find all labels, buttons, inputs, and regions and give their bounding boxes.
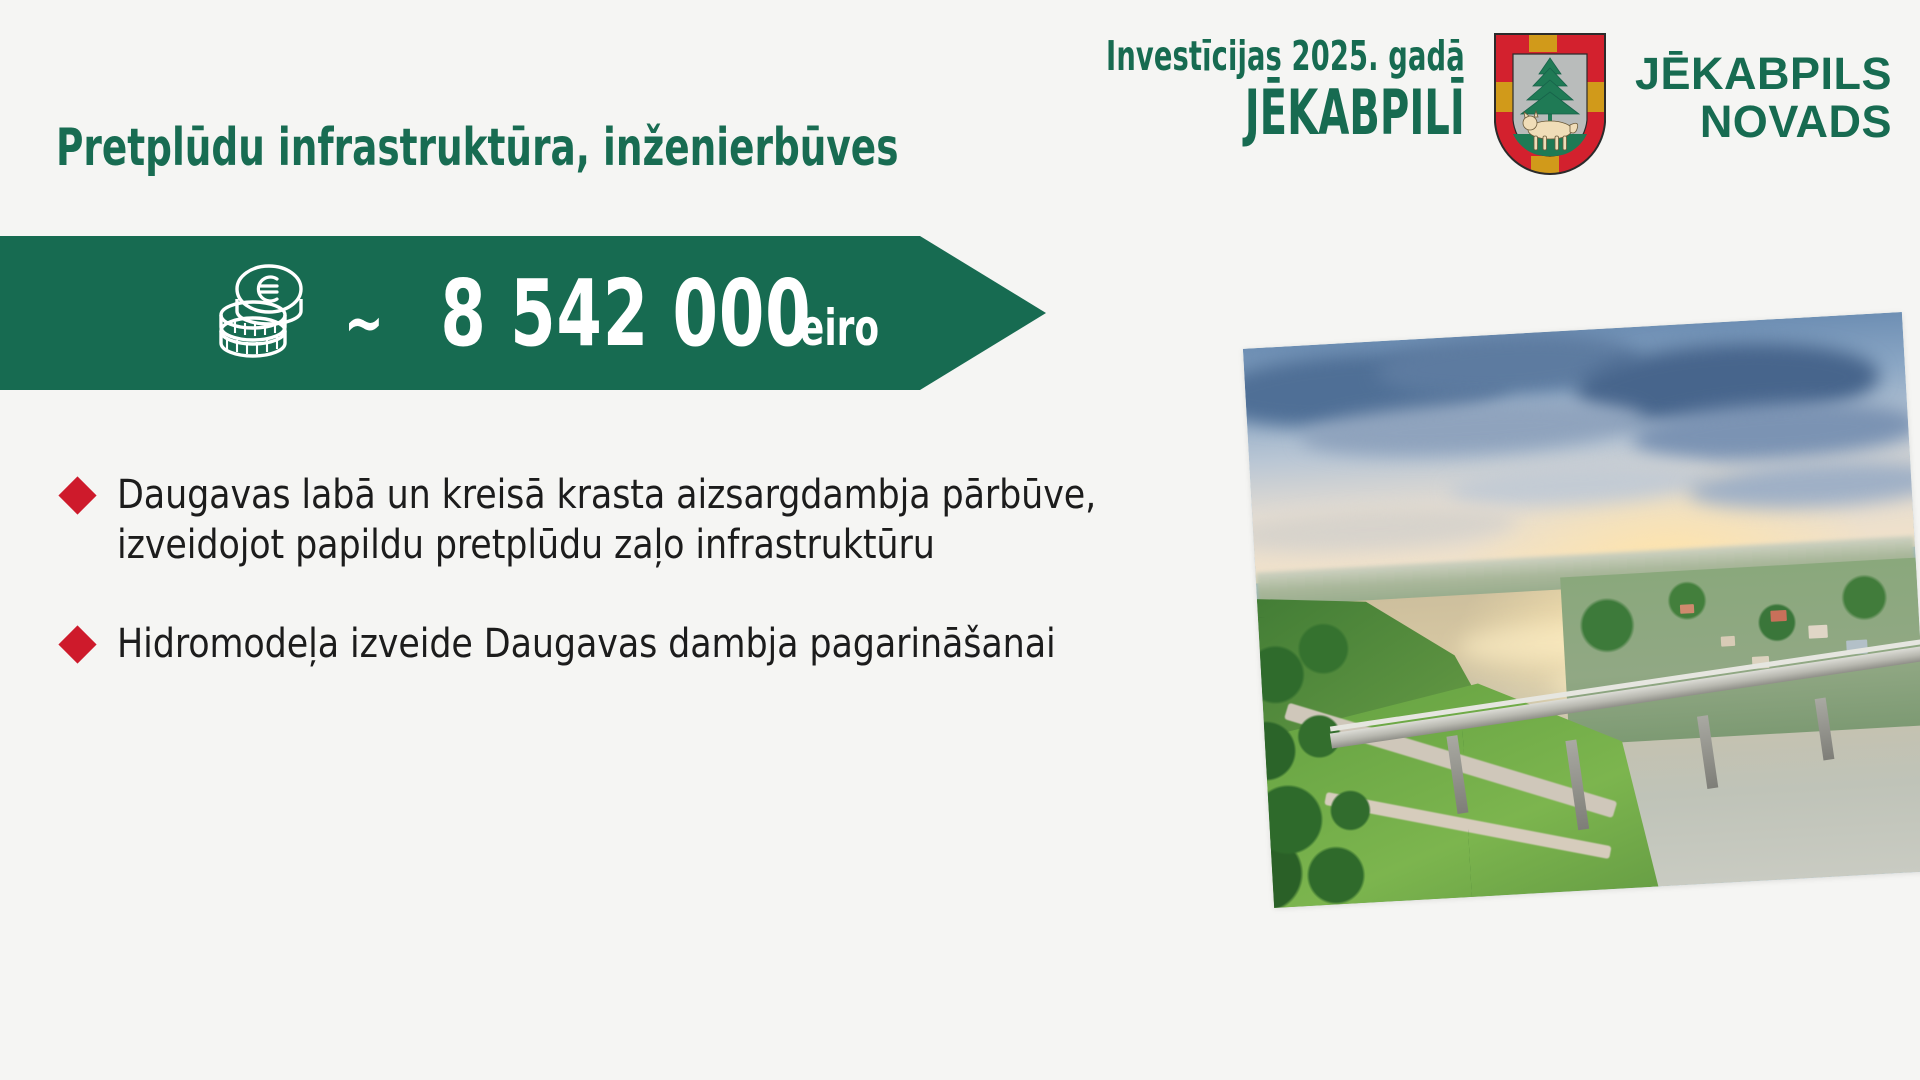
brand-line-2: NOVADS [1635, 98, 1892, 146]
daugava-aerial-photo [1243, 312, 1920, 908]
photo-building [1771, 610, 1787, 622]
list-item-text: Daugavas labā un kreisā krasta aizsargda… [117, 470, 1171, 571]
photo-frame [1243, 312, 1920, 908]
campaign-city-line: JĒKABPILĪ [1116, 81, 1465, 144]
amount-text-group: ~ 8 542 000 eiro [339, 260, 890, 367]
list-item-text: Hidromodeļa izveide Daugavas dambja paga… [117, 619, 1056, 669]
list-item: Hidromodeļa izveide Daugavas dambja paga… [64, 619, 1204, 669]
approx-symbol: ~ [344, 284, 384, 361]
list-item: Daugavas labā un kreisā krasta aizsargda… [64, 470, 1204, 571]
brand-wordmark: JĒKABPILS NOVADS [1635, 28, 1892, 145]
red-diamond-bullet-icon [58, 625, 96, 663]
page-title: Pretplūdu infrastruktūra, inženierbūves [56, 118, 898, 178]
jekabpils-coat-of-arms-icon [1491, 30, 1609, 178]
photo-building [1720, 635, 1735, 646]
bullet-list: Daugavas labā un kreisā krasta aizsargda… [64, 470, 1204, 717]
euro-coins-stack-icon [213, 261, 309, 365]
campaign-year-line: Investīcijas 2025. gadā [1106, 36, 1465, 77]
amount-banner: ~ 8 542 000 eiro [0, 236, 1046, 390]
campaign-heading: Investīcijas 2025. gadā JĒKABPILĪ [980, 28, 1465, 144]
brand-line-1: JĒKABPILS [1635, 50, 1892, 98]
red-diamond-bullet-icon [58, 476, 96, 514]
amount-currency-label: eiro [800, 299, 879, 357]
header-block: Investīcijas 2025. gadā JĒKABPILĪ [980, 28, 1892, 178]
photo-building [1680, 604, 1694, 614]
photo-trees [1243, 606, 1472, 908]
infographic-canvas: Investīcijas 2025. gadā JĒKABPILĪ [0, 0, 1920, 1080]
photo-building [1808, 625, 1827, 639]
amount-value: 8 542 000 [440, 260, 811, 367]
